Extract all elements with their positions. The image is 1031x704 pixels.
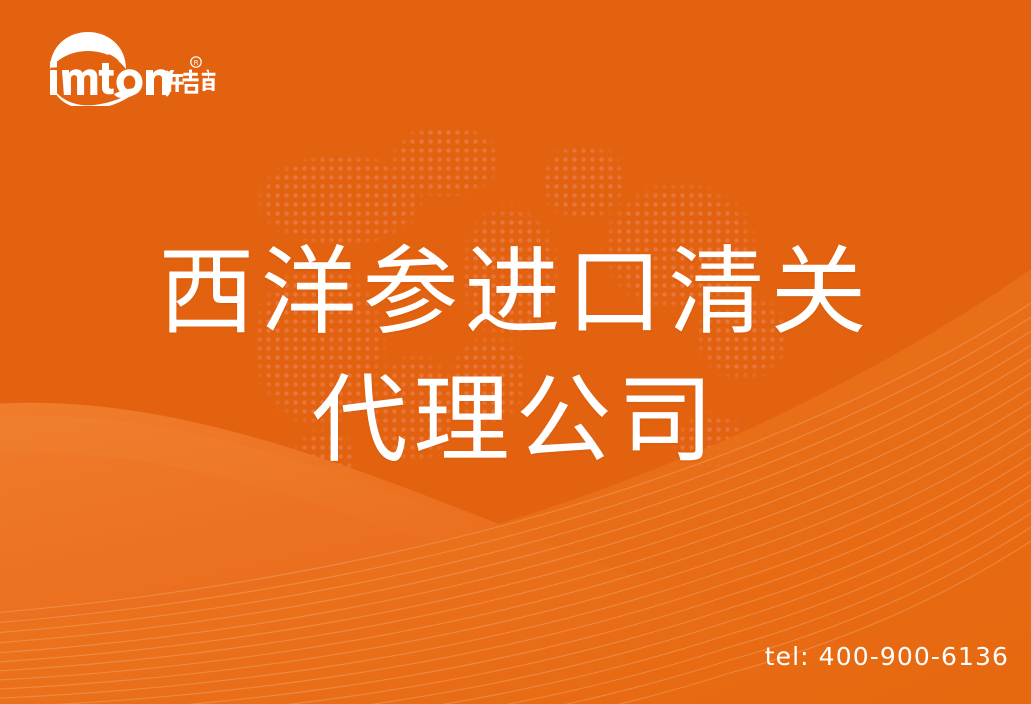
headline-line-2: 代理公司 xyxy=(0,356,1031,484)
registered-trademark-icon: R xyxy=(191,57,201,67)
logo-mark: R xyxy=(36,28,216,106)
headline: 西洋参进口清关 代理公司 xyxy=(0,228,1031,484)
globe-icon xyxy=(50,32,126,72)
logo-chinese-mark xyxy=(165,70,215,97)
svg-text:R: R xyxy=(194,59,199,67)
promo-banner: R 西洋参进口清关 代理公司 tel: 400-900-6136 xyxy=(0,0,1031,704)
headline-line-1: 西洋参进口清关 xyxy=(0,228,1031,356)
contact-phone: tel: 400-900-6136 xyxy=(765,642,1009,671)
brand-logo[interactable]: R xyxy=(36,28,216,106)
logo-wordmark xyxy=(50,61,169,96)
